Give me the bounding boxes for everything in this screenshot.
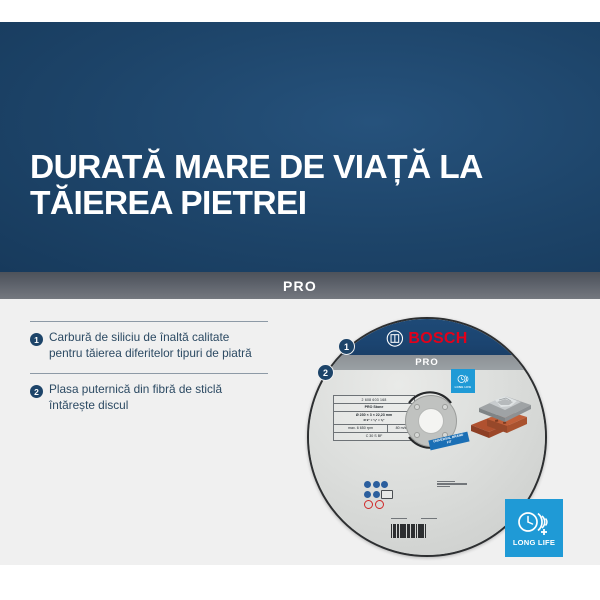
bottom-white-margin	[0, 565, 600, 600]
feature-text: Plasa puternică din fibră de sticlă întă…	[49, 382, 261, 413]
list-item: 1 Carbură de siliciu de înaltă calitate …	[30, 321, 268, 361]
bosch-logo: BOSCH	[386, 330, 467, 347]
feature-text: Carbură de siliciu de înaltă calitate pe…	[49, 330, 261, 361]
bosch-symbol-icon	[386, 330, 403, 347]
list-item: 2 Plasa puternică din fibră de sticlă în…	[30, 373, 268, 413]
spec-max-speed: max. 6 650 rpm	[334, 425, 387, 432]
manual-icon	[373, 491, 380, 498]
barcode-caption-line	[391, 518, 407, 519]
disc-tier-label: PRO	[415, 357, 439, 368]
pictogram-row	[364, 490, 406, 499]
product-banner: DURATĂ MARE DE VIAȚĂ LA TĂIEREA PIETREI …	[0, 0, 600, 600]
no-wet-cut-icon	[364, 500, 373, 509]
pictogram-row	[364, 481, 406, 488]
dust-mask-icon	[381, 481, 388, 488]
content-section: 1 Carbură de siliciu de înaltă calitate …	[0, 299, 600, 565]
long-life-badge-large: LONG LIFE	[505, 499, 563, 557]
feature-list: 1 Carbură de siliciu de înaltă calitate …	[30, 321, 268, 413]
pro-tier-bar: PRO	[0, 272, 600, 299]
fine-print-line	[437, 486, 450, 487]
divider	[30, 373, 268, 374]
long-life-clock-plus-icon	[516, 510, 552, 536]
fine-print-line	[437, 481, 455, 482]
spec-dimensions-metric: Ø 230 × 3 × 22,23 mm	[356, 413, 392, 417]
barcode-caption	[391, 518, 437, 519]
barcode-caption-line	[421, 518, 437, 519]
stone-and-brick-illustration	[465, 381, 535, 441]
eye-protection-icon	[364, 481, 371, 488]
hub-bore	[418, 408, 444, 434]
hub-dot	[442, 404, 448, 410]
product-image: 1 2 BOSCH PRO	[300, 311, 570, 561]
barcode	[391, 524, 429, 538]
spacer	[30, 361, 268, 373]
feature-number-badge: 1	[30, 333, 43, 346]
fine-print-line	[437, 483, 467, 484]
top-white-margin	[0, 0, 600, 22]
hub-dot	[414, 432, 420, 438]
callout-badge-1: 1	[338, 338, 355, 355]
guard-icon	[381, 490, 393, 499]
long-life-label-large: LONG LIFE	[513, 538, 555, 547]
bosch-wordmark: BOSCH	[408, 330, 467, 347]
gloves-icon	[364, 491, 371, 498]
hero-section: DURATĂ MARE DE VIAȚĂ LA TĂIEREA PIETREI	[0, 22, 600, 272]
ear-protection-icon	[373, 481, 380, 488]
callout-badge-2: 2	[317, 364, 334, 381]
safety-pictogram-grid	[364, 481, 406, 511]
divider	[30, 321, 268, 322]
no-side-grind-icon	[375, 500, 384, 509]
hub-dot	[414, 404, 420, 410]
page-title: DURATĂ MARE DE VIAȚĂ LA TĂIEREA PIETREI	[30, 150, 560, 222]
pictogram-row	[364, 500, 406, 509]
pro-tier-label: PRO	[283, 278, 317, 294]
disc-tier-band: PRO	[309, 355, 545, 370]
feature-number-badge: 2	[30, 385, 43, 398]
fine-print-block	[437, 481, 467, 488]
